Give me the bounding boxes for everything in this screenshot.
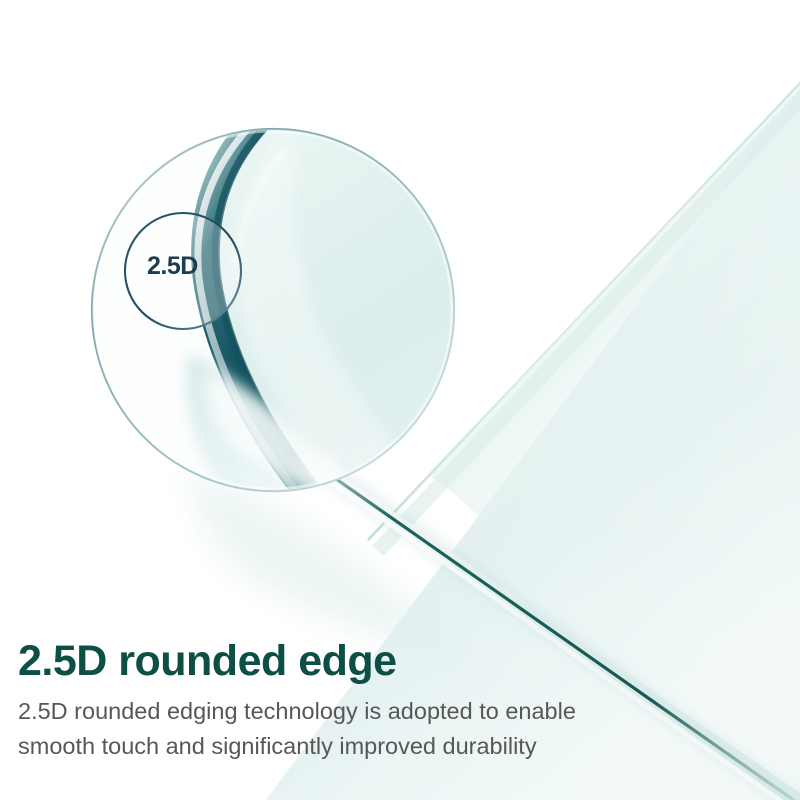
feature-subcopy: 2.5D rounded edging technology is adopte…	[18, 694, 648, 764]
feature-text-block: 2.5D rounded edge 2.5D rounded edging te…	[18, 636, 658, 764]
feature-subcopy-line-2: smooth touch and significantly improved …	[18, 729, 648, 764]
feature-subcopy-line-1: 2.5D rounded edging technology is adopte…	[18, 694, 648, 729]
feature-headline: 2.5D rounded edge	[18, 636, 658, 686]
callout-label-2-5d: 2.5D	[147, 252, 198, 281]
product-feature-banner: 2.5D 2.5D rounded edge 2.5D rounded edgi…	[0, 0, 800, 800]
